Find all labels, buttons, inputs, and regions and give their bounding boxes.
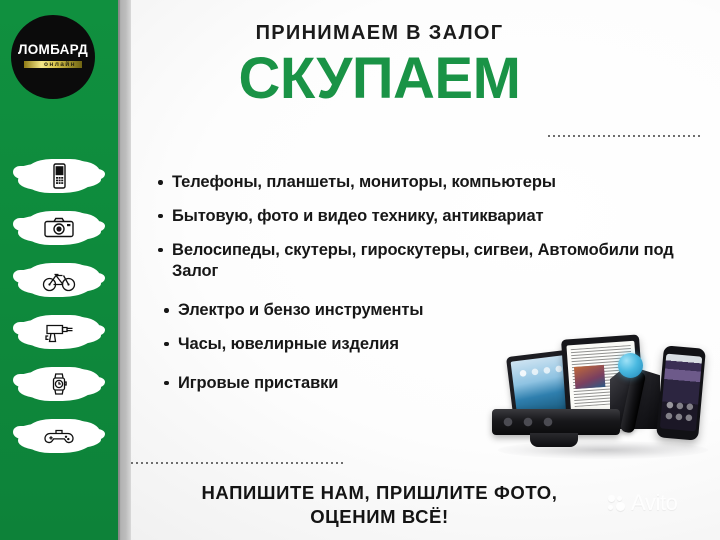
gamepad-icon bbox=[42, 421, 76, 451]
list-item: Электро и бензо инструменты bbox=[155, 300, 675, 322]
page-title: СКУПАЕМ bbox=[131, 50, 720, 108]
category-icon-stack bbox=[0, 150, 118, 462]
icon-row bbox=[0, 202, 118, 254]
avito-watermark: Avito bbox=[608, 492, 678, 514]
footer-line-2: ОЦЕНИМ ВСЁ! bbox=[131, 505, 628, 529]
sensor-bar-image bbox=[492, 409, 620, 435]
icon-row bbox=[0, 358, 118, 410]
grey-divider-strip bbox=[118, 0, 131, 540]
avito-wordmark: Avito bbox=[631, 492, 678, 514]
footer-line-1: НАПИШИТЕ НАМ, ПРИШЛИТЕ ФОТО, bbox=[131, 481, 628, 505]
drill-icon bbox=[42, 317, 76, 347]
smartphone-image bbox=[656, 345, 706, 440]
list-item: Телефоны, планшеты, мониторы, компьютеры bbox=[155, 172, 675, 194]
avito-logo-icon bbox=[608, 495, 628, 512]
icon-row bbox=[0, 410, 118, 462]
device-shadow bbox=[498, 441, 708, 459]
logo-word: ЛОМБАРД bbox=[11, 43, 95, 57]
dotted-divider-top bbox=[548, 135, 700, 137]
dotted-divider-bottom bbox=[131, 462, 343, 464]
sensor-bar-base bbox=[530, 433, 578, 447]
brand-logo: ЛОМБАРД онлайн bbox=[11, 15, 95, 99]
bicycle-icon bbox=[42, 265, 76, 295]
camera-icon bbox=[42, 213, 76, 243]
watch-icon bbox=[42, 369, 76, 399]
device-photo-cluster bbox=[492, 325, 720, 465]
kicker-text: ПРИНИМАЕМ В ЗАЛОГ bbox=[131, 23, 720, 43]
phone-icon bbox=[42, 161, 76, 191]
list-item: Бытовую, фото и видео технику, антиквари… bbox=[155, 206, 675, 228]
icon-row bbox=[0, 306, 118, 358]
list-item: Велосипеды, скутеры, гироскутеры, сигвеи… bbox=[155, 240, 675, 284]
advertisement-banner: ЛОМБАРД онлайн bbox=[0, 0, 720, 540]
icon-row bbox=[0, 254, 118, 306]
logo-subtitle: онлайн bbox=[11, 61, 95, 68]
icon-row bbox=[0, 150, 118, 202]
motion-controller-orb bbox=[618, 353, 643, 378]
